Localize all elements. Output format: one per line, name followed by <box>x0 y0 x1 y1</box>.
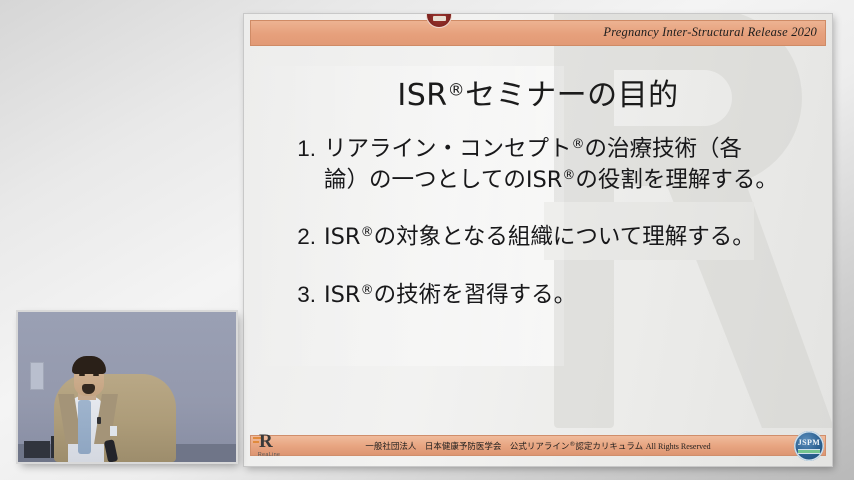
presenter-video-thumbnail[interactable] <box>18 312 236 462</box>
presenter-hair <box>72 356 106 374</box>
registered-icon: ® <box>572 137 585 152</box>
list-item: 1. リアライン・コンセプト®の治療技術（各 論）の一つとしてのISR®の役割を… <box>286 134 808 195</box>
registered-icon: ® <box>361 225 374 240</box>
list-item-segment: の役割を理解する。 <box>575 167 778 193</box>
slide-footer-bar: 一般社団法人 日本健康予防医学会 公式リアライン®認定カリキュラム All Ri… <box>250 435 826 456</box>
list-item-segment: の技術を習得する。 <box>374 282 577 308</box>
presenter-lapel-microphone-icon <box>97 417 101 424</box>
slide-title: ISR®セミナーの目的 <box>244 70 832 114</box>
list-item-number: 3. <box>286 280 316 311</box>
list-item-segment: 論）の一つとしてのISR <box>324 167 562 193</box>
footer-rights: All Rights Reserved <box>646 442 711 451</box>
realine-logo-word: ReaLine <box>252 452 286 458</box>
video-equipment-box <box>24 441 50 458</box>
realine-logo-icon: R ReaLine <box>252 432 286 460</box>
society-logo-ribbon <box>798 449 820 454</box>
list-item-number: 1. <box>286 134 316 165</box>
list-item: 2. ISR®の対象となる組織について理解する。 <box>286 222 808 253</box>
list-item-text: ISR®の対象となる組織について理解する。 <box>324 222 808 253</box>
registered-icon: ® <box>361 283 374 298</box>
list-item-segment: リアライン・コンセプト <box>324 136 572 162</box>
list-item-segment: の対象となる組織について理解する。 <box>374 224 755 250</box>
footer-org-tail: 認定カリキュラム <box>575 442 643 452</box>
slide-bullet-list: 1. リアライン・コンセプト®の治療技術（各 論）の一つとしてのISR®の役割を… <box>286 134 808 337</box>
slide-title-rest: セミナーの目的 <box>465 78 679 113</box>
slide-title-registered-icon: ® <box>448 81 466 101</box>
presenter-eye-right <box>93 374 99 376</box>
society-logo-icon: JSPM <box>794 431 824 461</box>
society-logo-initials: JSPM <box>794 438 824 447</box>
video-player-screen: Pregnancy Inter-Structural Release 2020 … <box>0 0 854 480</box>
slide-header-bar: Pregnancy Inter-Structural Release 2020 <box>250 20 826 46</box>
list-item-segment: ISR <box>324 224 361 250</box>
presenter-tie <box>78 400 91 454</box>
video-wall-panel <box>30 362 44 390</box>
presenter-eye-left <box>79 374 85 376</box>
registered-icon: ® <box>562 168 575 183</box>
list-item-segment: ISR <box>324 282 361 308</box>
list-item-text: ISR®の技術を習得する。 <box>324 280 808 311</box>
slide-footer-text: 一般社団法人 日本健康予防医学会 公式リアライン®認定カリキュラム All Ri… <box>251 440 825 452</box>
list-item: 3. ISR®の技術を習得する。 <box>286 280 808 311</box>
presentation-slide: Pregnancy Inter-Structural Release 2020 … <box>244 14 832 466</box>
presenter-name-badge <box>110 426 117 436</box>
slide-title-main: ISR <box>397 78 447 113</box>
list-item-segment: の治療技術（各 <box>585 136 743 162</box>
list-item-text: リアライン・コンセプト®の治療技術（各 論）の一つとしてのISR®の役割を理解す… <box>324 134 808 195</box>
realine-logo-mark: R <box>259 432 293 451</box>
list-item-number: 2. <box>286 222 316 253</box>
footer-org: 一般社団法人 日本健康予防医学会 公式リアライン <box>365 442 569 452</box>
slide-header-title: Pregnancy Inter-Structural Release 2020 <box>603 25 817 40</box>
